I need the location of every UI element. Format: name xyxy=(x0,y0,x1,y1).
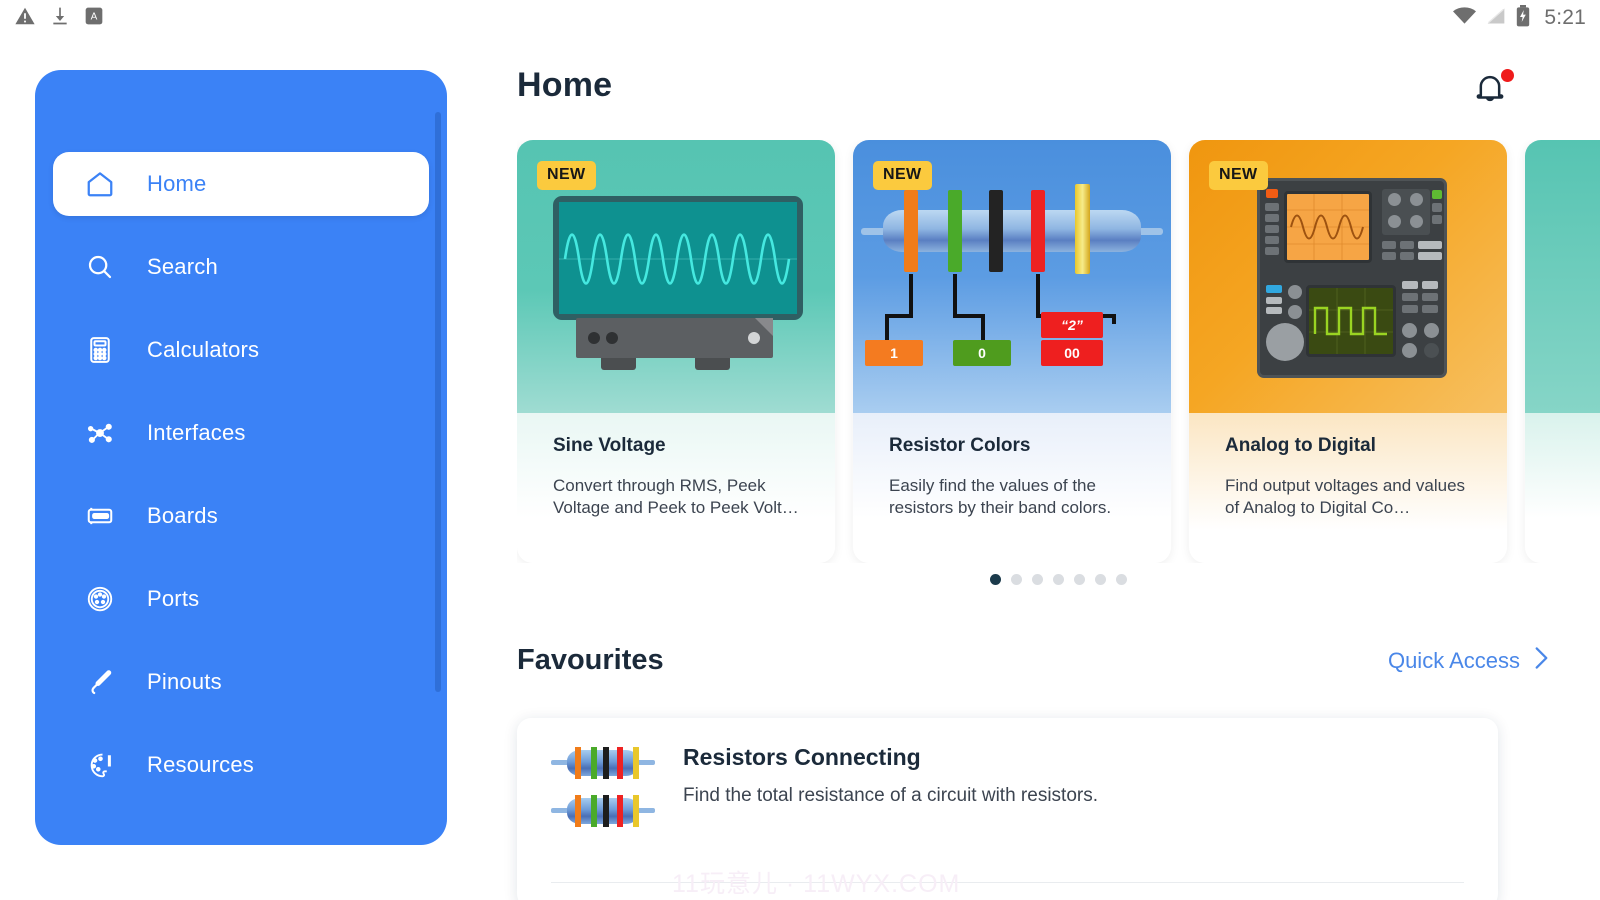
carousel-dot[interactable] xyxy=(1032,574,1043,585)
sidebar-scrollbar[interactable] xyxy=(435,112,441,692)
carousel-dot[interactable] xyxy=(1074,574,1085,585)
status-bar-clock: 5:21 xyxy=(1544,6,1586,30)
quick-access-label: Quick Access xyxy=(1388,648,1520,674)
oscilloscope-body xyxy=(553,196,803,320)
main-content: Home NEW xyxy=(466,36,1600,900)
instrument-screen-square xyxy=(1306,285,1396,357)
card-image-oscilloscope: NEW xyxy=(517,140,835,413)
two-resistors-icon xyxy=(551,744,655,830)
carousel-dot[interactable] xyxy=(1053,574,1064,585)
favourite-item-text: Resistors Connecting Find the total resi… xyxy=(683,744,1098,807)
resistor-band-gold xyxy=(1075,184,1090,274)
sidebar-nav-list: Home Search Calculators Interfaces xyxy=(35,70,447,797)
sidebar-item-boards[interactable]: Boards xyxy=(53,484,429,548)
favourites-header: Favourites Quick Access xyxy=(517,644,1549,677)
callout-line xyxy=(953,274,957,318)
carousel-card-resistor-colors[interactable]: NEW xyxy=(853,140,1171,563)
sidebar-item-label: Ports xyxy=(147,586,199,612)
resistor-body xyxy=(883,210,1141,252)
feature-carousel[interactable]: NEW xyxy=(517,140,1600,563)
sidebar-item-calculators[interactable]: Calculators xyxy=(53,318,429,382)
notifications-button[interactable] xyxy=(1470,68,1514,112)
callout-line xyxy=(885,314,913,318)
band-value-box-1: 1 xyxy=(865,340,923,366)
sidebar-item-ports[interactable]: Ports xyxy=(53,567,429,631)
carousel-dot[interactable] xyxy=(1095,574,1106,585)
card-title: Resistor Colors xyxy=(889,435,1135,457)
port-connector-icon xyxy=(83,582,117,616)
palette-icon xyxy=(83,748,117,782)
carousel-card-next-partial[interactable] xyxy=(1525,140,1600,563)
sidebar-item-label: Interfaces xyxy=(147,420,246,446)
oscilloscope-screen xyxy=(559,202,797,314)
card-image-instrument: NEW xyxy=(1189,140,1507,413)
favourite-item-resistors-connecting[interactable]: Resistors Connecting Find the total resi… xyxy=(551,744,1464,830)
resistor-band-orange xyxy=(904,190,918,272)
new-badge: NEW xyxy=(873,161,932,190)
sidebar-item-resources[interactable]: Resources xyxy=(53,733,429,797)
home-icon xyxy=(83,167,117,201)
card-body: Analog to Digital Find output voltages a… xyxy=(1189,413,1507,563)
new-badge: NEW xyxy=(1209,161,1268,190)
favourite-item-description: Find the total resistance of a circuit w… xyxy=(683,785,1098,807)
sidebar-item-label: Boards xyxy=(147,503,218,529)
status-bar-right: 5:21 xyxy=(1453,5,1586,32)
card-image-next xyxy=(1525,140,1600,413)
resistor-band-black xyxy=(989,190,1003,272)
resistor-band-red xyxy=(1031,190,1045,272)
sidebar-item-label: Home xyxy=(147,171,207,197)
quick-access-link[interactable]: Quick Access xyxy=(1388,646,1549,676)
carousel-card-sine-voltage[interactable]: NEW xyxy=(517,140,835,563)
watermark-text: 11玩意儿 · 11WYX.COM xyxy=(672,864,960,900)
sidebar-item-label: Resources xyxy=(147,752,254,778)
band-value-box-4: 00 xyxy=(1041,340,1103,366)
callout-line xyxy=(1112,314,1116,324)
callout-line xyxy=(1036,274,1040,318)
wifi-icon xyxy=(1453,7,1476,30)
warning-triangle-icon xyxy=(14,5,36,32)
carousel-dot[interactable] xyxy=(990,574,1001,585)
download-icon xyxy=(50,5,70,32)
page-title: Home xyxy=(517,66,612,105)
signal-off-icon xyxy=(1486,7,1506,30)
notification-dot-badge xyxy=(1501,69,1514,82)
card-body: Sine Voltage Convert through RMS, Peek V… xyxy=(517,413,835,563)
search-icon xyxy=(83,250,117,284)
instrument-screen-sine xyxy=(1284,191,1372,263)
card-body: Resistor Colors Easily find the values o… xyxy=(853,413,1171,563)
battery-charging-icon xyxy=(1516,5,1530,32)
new-badge: NEW xyxy=(537,161,596,190)
calculator-icon xyxy=(83,333,117,367)
card-description: Find output voltages and values of Analo… xyxy=(1225,475,1471,520)
favourites-title: Favourites xyxy=(517,644,664,677)
card-body xyxy=(1525,413,1600,563)
resistor-band-green xyxy=(948,190,962,272)
callout-line xyxy=(909,274,913,318)
status-bar-left: A xyxy=(14,5,104,32)
carousel-dot[interactable] xyxy=(1011,574,1022,585)
card-title: Sine Voltage xyxy=(553,435,799,457)
carousel-pagination-dots[interactable] xyxy=(517,574,1600,585)
app-root: A 5:21 Home xyxy=(0,0,1600,900)
app-badge-icon: A xyxy=(84,6,104,31)
card-description: Convert through RMS, Peek Voltage and Pe… xyxy=(553,475,799,520)
svg-text:A: A xyxy=(91,11,98,22)
sidebar-item-label: Pinouts xyxy=(147,669,222,695)
card-image-resistor: NEW xyxy=(853,140,1171,413)
carousel-track: NEW xyxy=(517,140,1600,563)
sidebar-item-home[interactable]: Home xyxy=(53,152,429,216)
sidebar-item-pinouts[interactable]: Pinouts xyxy=(53,650,429,714)
instrument-body xyxy=(1257,178,1447,378)
sidebar-item-interfaces[interactable]: Interfaces xyxy=(53,401,429,465)
scope-foot xyxy=(601,358,636,370)
carousel-card-analog-to-digital[interactable]: NEW xyxy=(1189,140,1507,563)
card-title: Analog to Digital xyxy=(1225,435,1471,457)
jack-plug-icon xyxy=(83,665,117,699)
favourites-card: Resistors Connecting Find the total resi… xyxy=(517,718,1498,900)
sidebar-item-search[interactable]: Search xyxy=(53,235,429,299)
sidebar-item-label: Search xyxy=(147,254,218,280)
card-description: Easily find the values of the resistors … xyxy=(889,475,1135,520)
chevron-right-icon xyxy=(1534,646,1549,676)
board-icon xyxy=(83,499,117,533)
sidebar-item-label: Calculators xyxy=(147,337,259,363)
band-value-box-3: “2” xyxy=(1041,312,1103,338)
network-nodes-icon xyxy=(83,416,117,450)
favourite-item-title: Resistors Connecting xyxy=(683,744,1098,771)
carousel-dot[interactable] xyxy=(1116,574,1127,585)
bell-icon xyxy=(1470,95,1510,112)
oscilloscope-base xyxy=(576,318,773,358)
scope-foot xyxy=(695,358,730,370)
status-bar: A 5:21 xyxy=(0,0,1600,36)
band-value-box-2: 0 xyxy=(953,340,1011,366)
sidebar: Home Search Calculators Interfaces xyxy=(35,70,447,845)
